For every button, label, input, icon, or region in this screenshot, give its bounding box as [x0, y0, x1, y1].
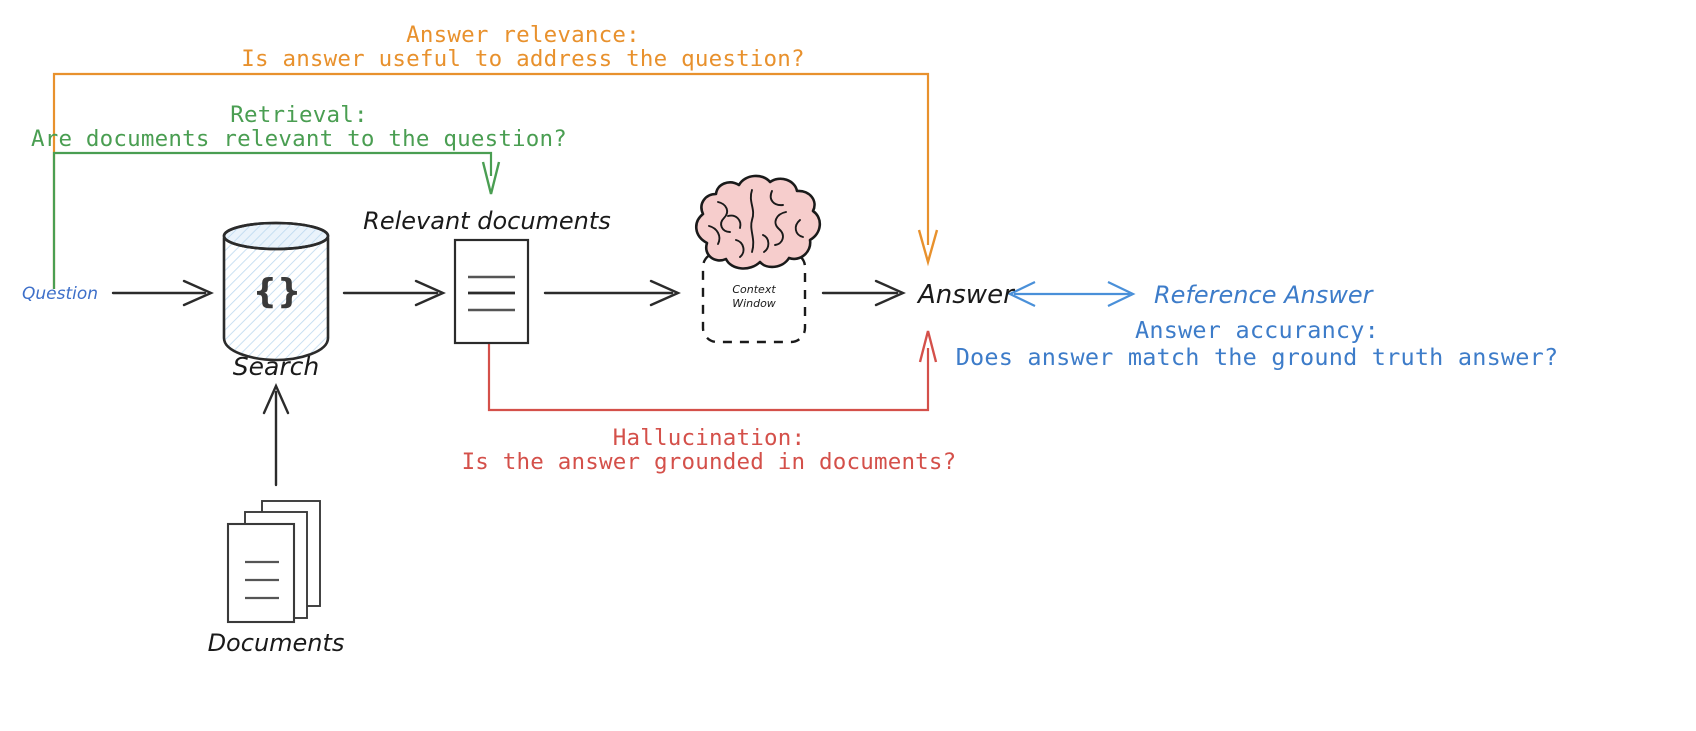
node-documents-label: Documents	[208, 629, 345, 657]
node-reference-answer-label: Reference Answer	[1154, 281, 1372, 309]
node-relevant-documents-label: Relevant documents	[363, 207, 611, 235]
hallucination-path	[489, 331, 936, 410]
brain-icon	[696, 176, 820, 269]
answer-reference-arrow	[1010, 282, 1133, 306]
hallucination-question: Is the answer grounded in documents?	[462, 449, 957, 476]
node-question-label: Question	[22, 284, 98, 304]
answer-accuracy-title: Answer accurancy:	[1135, 317, 1379, 345]
hallucination-title: Hallucination:	[613, 425, 805, 452]
node-answer-label: Answer	[918, 280, 1014, 311]
retrieval-question: Are documents relevant to the question?	[31, 126, 567, 153]
retrieval-title: Retrieval:	[230, 102, 367, 129]
context-window-line2: Window	[732, 298, 776, 311]
answer-relevance-title: Answer relevance:	[406, 22, 640, 49]
node-search-label: Search	[233, 352, 319, 382]
answer-accuracy-question: Does answer match the ground truth answe…	[956, 344, 1559, 372]
context-window-line1: Context	[732, 284, 775, 297]
relevant-document-icon	[455, 240, 528, 343]
database-braces-glyph: {}	[253, 272, 301, 312]
documents-stack-icon	[228, 501, 320, 622]
answer-relevance-question: Is answer useful to address the question…	[241, 46, 805, 73]
diagram-canvas: Answer relevance: Is answer useful to ad…	[0, 0, 1696, 731]
